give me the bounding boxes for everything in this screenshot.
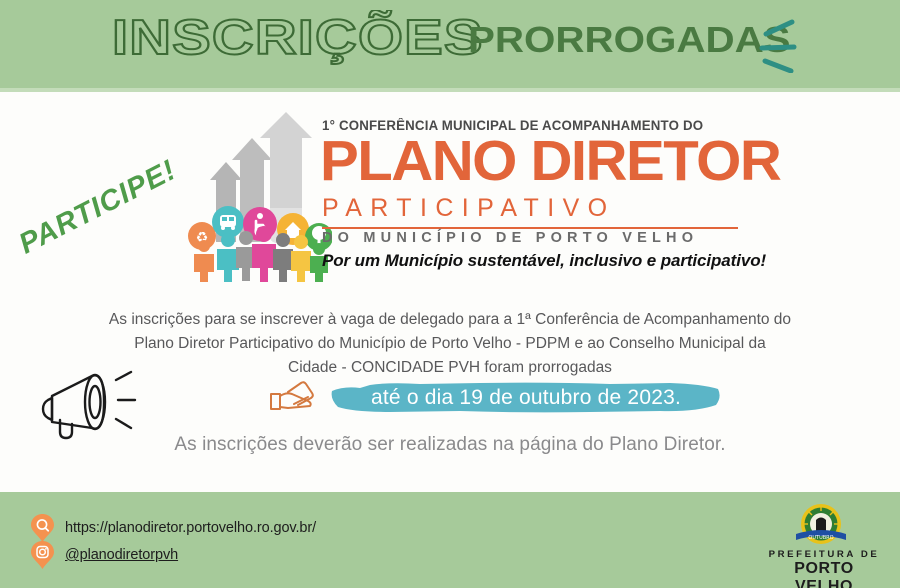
search-pin-icon <box>30 513 55 543</box>
sparkle-dashes-icon <box>758 18 818 73</box>
logo-slogan: Por um Município sustentável, inclusivo … <box>322 252 742 269</box>
brasao-seal-icon: OUTUBRO <box>790 502 852 550</box>
logo-illustration: ♻ <box>186 112 332 282</box>
hand-writing-icon <box>268 380 318 414</box>
instagram-pin-icon <box>30 540 55 570</box>
logo-divider <box>322 227 738 229</box>
footer-instagram-handle[interactable]: @planodiretorpvh <box>65 547 178 563</box>
footer-instagram-row[interactable]: @planodiretorpvh <box>30 540 178 570</box>
svg-text:OUTUBRO: OUTUBRO <box>808 535 833 541</box>
header-prorrogadas-text: PRORROGADAS <box>468 22 791 58</box>
prefeitura-logo: OUTUBRO PREFEITURA DE PORTO VELHO <box>768 502 880 580</box>
body-line-1: As inscrições para se inscrever à vaga d… <box>100 308 800 332</box>
header-inscricoes-text: INSCRIÇÕES <box>112 14 484 63</box>
footer-website-link[interactable]: https://planodiretor.portovelho.ro.gov.b… <box>65 520 316 536</box>
megaphone-icon <box>34 362 159 442</box>
footer-website-row[interactable]: https://planodiretor.portovelho.ro.gov.b… <box>30 513 316 543</box>
body-line-2: Plano Diretor Participativo do Município… <box>100 332 800 356</box>
prefeitura-line-2: PORTO VELHO <box>768 560 880 588</box>
logo-title: PLANO DIRETOR <box>320 133 748 190</box>
participe-callout: PARTICIPE! <box>14 154 182 261</box>
prefeitura-line-1: PREFEITURA DE <box>768 549 880 560</box>
body-paragraph: As inscrições para se inscrever à vaga d… <box>100 308 800 380</box>
plano-diretor-logo: ♻ <box>186 112 738 292</box>
closing-line: As inscrições deverão ser realizadas na … <box>100 434 800 456</box>
body-line-3: Cidade - CONCIDADE PVH foram prorrogadas <box>100 356 800 380</box>
header-band-edge <box>0 88 900 92</box>
poster-root: INSCRIÇÕES PRORROGADAS PARTICIPE! ♻ <box>0 0 900 588</box>
logo-text-block: 1° CONFERÊNCIA MUNICIPAL DE ACOMPANHAMEN… <box>322 112 740 287</box>
date-highlight-text: até o dia 19 de outubro de 2023. <box>330 381 722 414</box>
logo-subtitle: PARTICIPATIVO <box>322 196 740 221</box>
logo-location: DO MUNICÍPIO DE PORTO VELHO <box>322 231 740 246</box>
date-highlight: até o dia 19 de outubro de 2023. <box>330 381 722 414</box>
